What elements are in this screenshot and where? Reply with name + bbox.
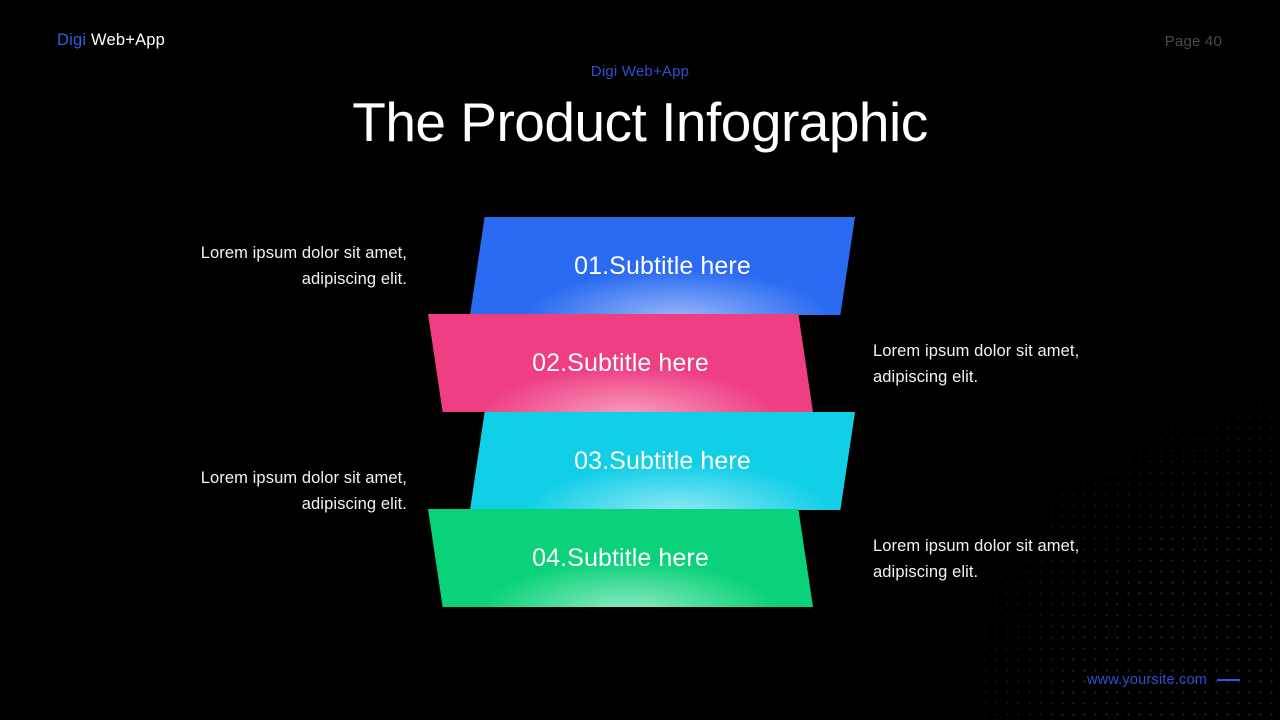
band-label-1: 01.Subtitle here xyxy=(574,252,751,281)
infographic-band-1[interactable]: 01.Subtitle here xyxy=(470,217,855,315)
band-caption-2: Lorem ipsum dolor sit amet, adipiscing e… xyxy=(873,339,1123,390)
footer: www.yoursite.com xyxy=(1087,672,1240,688)
band-label-4: 04.Subtitle here xyxy=(532,544,709,573)
slide-canvas: Digi Web+App Page 40 Digi Web+App The Pr… xyxy=(0,0,1280,720)
dash-icon xyxy=(1217,679,1240,681)
band-caption-4: Lorem ipsum dolor sit amet, adipiscing e… xyxy=(873,534,1123,585)
infographic-band-3[interactable]: 03.Subtitle here xyxy=(470,412,855,510)
footer-url[interactable]: www.yoursite.com xyxy=(1087,672,1207,688)
infographic-band-2[interactable]: 02.Subtitle here xyxy=(428,314,813,412)
infographic-band-4[interactable]: 04.Subtitle here xyxy=(428,509,813,607)
band-caption-3: Lorem ipsum dolor sit amet, adipiscing e… xyxy=(157,466,407,517)
band-caption-1: Lorem ipsum dolor sit amet, adipiscing e… xyxy=(157,241,407,292)
band-label-2: 02.Subtitle here xyxy=(532,349,709,378)
band-label-3: 03.Subtitle here xyxy=(574,447,751,476)
